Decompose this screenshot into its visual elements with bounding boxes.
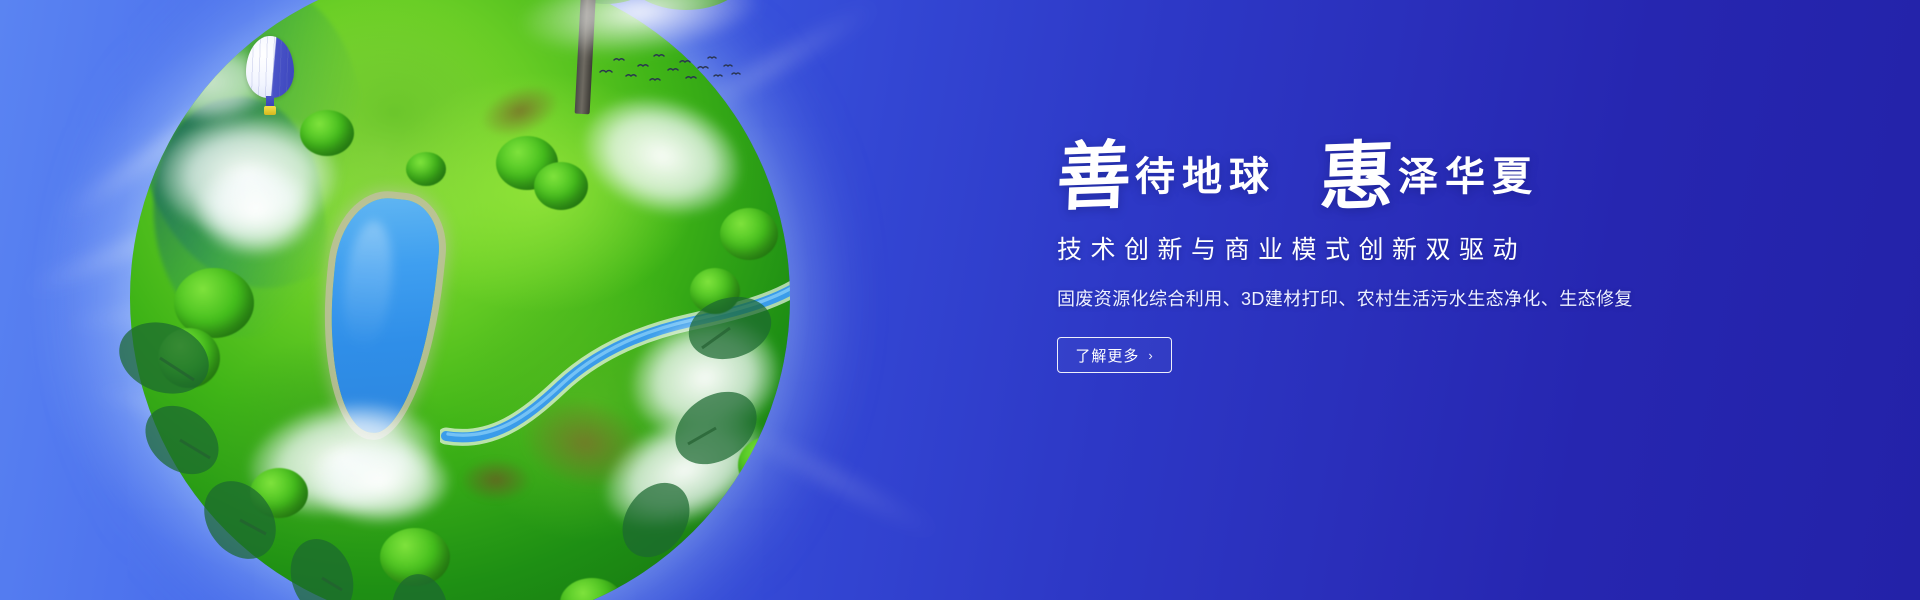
headline-text-daidiqiu: 待地球 <box>1135 157 1276 197</box>
hero-copy-block: 善待地球惠泽华夏 技术创新与商业模式创新双驱动 固废资源化综合利用、3D建材打印… <box>1057 140 1757 373</box>
chevron-right-icon: › <box>1148 349 1153 362</box>
hero-banner: 善待地球惠泽华夏 技术创新与商业模式创新双驱动 固废资源化综合利用、3D建材打印… <box>0 0 1920 600</box>
headline-char-hui: 惠 <box>1319 139 1396 216</box>
learn-more-button[interactable]: 了解更多 › <box>1057 337 1172 373</box>
page-title: 善待地球惠泽华夏 <box>1057 140 1757 214</box>
subtitle: 技术创新与商业模式创新双驱动 <box>1057 230 1757 266</box>
description-text: 固废资源化综合利用、3D建材打印、农村生活污水生态净化、生态修复 <box>1057 285 1757 311</box>
headline-char-shan: 善 <box>1056 139 1133 216</box>
hot-air-balloon-icon <box>246 36 294 118</box>
balloon-envelope <box>246 36 294 98</box>
earth-globe-image <box>130 0 790 600</box>
bird-flock-icon <box>592 46 742 90</box>
balloon-neck <box>266 96 274 106</box>
balloon-basket <box>264 106 276 115</box>
learn-more-label: 了解更多 <box>1075 345 1139 366</box>
headline-text-zehuaxia: 泽华夏 <box>1398 157 1539 197</box>
